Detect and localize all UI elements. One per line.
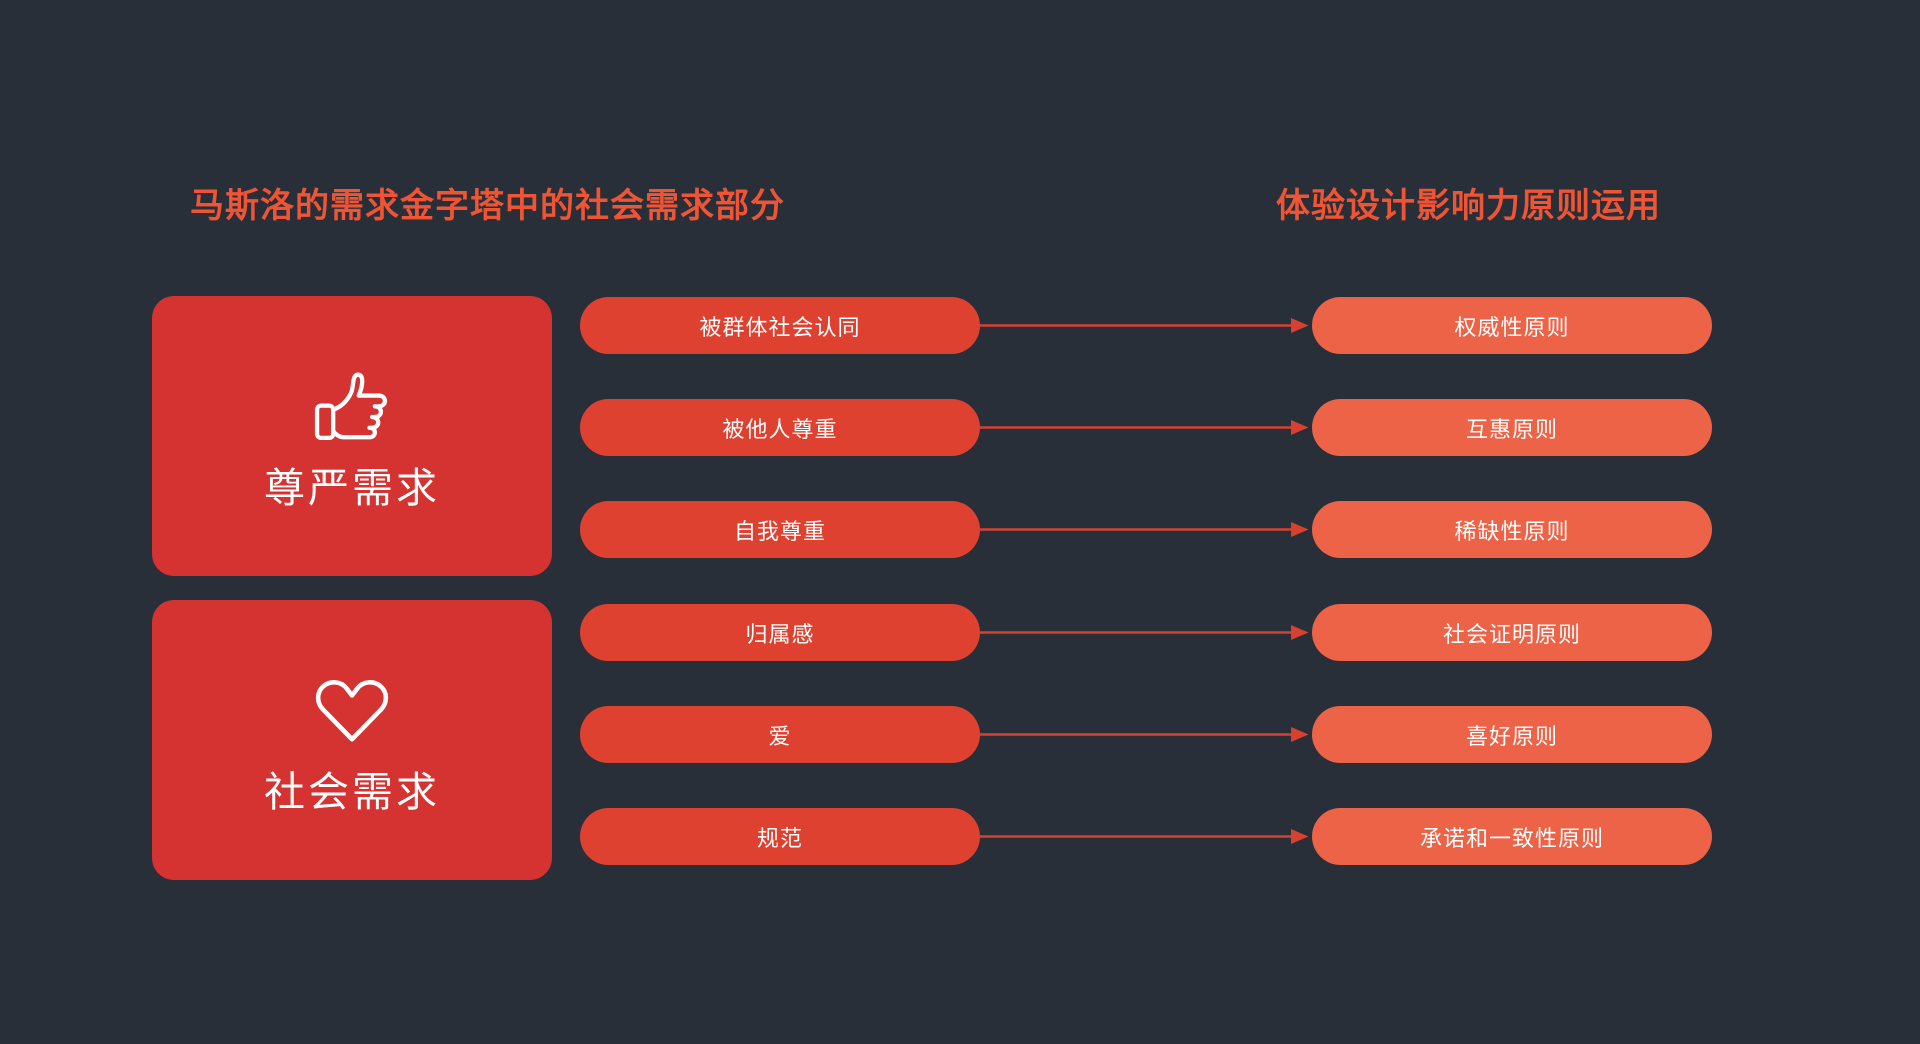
principle-pill-label: 承诺和一致性原则 xyxy=(1420,821,1604,853)
principle-pill-label: 喜好原则 xyxy=(1466,719,1558,751)
principle-pill[interactable]: 互惠原则 xyxy=(1312,399,1712,456)
need-pill-label: 自我尊重 xyxy=(734,514,826,546)
principle-pill-label: 稀缺性原则 xyxy=(1454,514,1569,546)
need-pill[interactable]: 被群体社会认同 xyxy=(580,297,980,354)
principle-pill[interactable]: 喜好原则 xyxy=(1312,706,1712,763)
need-pill-label: 爱 xyxy=(768,719,791,751)
need-pill[interactable]: 被他人尊重 xyxy=(580,399,980,456)
need-pill[interactable]: 归属感 xyxy=(580,604,980,661)
principle-pill[interactable]: 稀缺性原则 xyxy=(1312,501,1712,558)
need-pill[interactable]: 爱 xyxy=(580,706,980,763)
principle-pill[interactable]: 权威性原则 xyxy=(1312,297,1712,354)
page-title-right: 体验设计影响力原则运用 xyxy=(1276,178,1661,227)
need-pill[interactable]: 规范 xyxy=(580,808,980,865)
need-pill-label: 被群体社会认同 xyxy=(699,310,860,342)
principle-pill[interactable]: 承诺和一致性原则 xyxy=(1312,808,1712,865)
principle-pill-label: 权威性原则 xyxy=(1454,310,1569,342)
principle-pill-label: 互惠原则 xyxy=(1466,412,1558,444)
diagram-canvas: 马斯洛的需求金字塔中的社会需求部分 体验设计影响力原则运用 xyxy=(0,0,1920,1044)
principle-pill[interactable]: 社会证明原则 xyxy=(1312,604,1712,661)
category-card-label: 社会需求 xyxy=(264,772,440,813)
category-card-esteem[interactable]: 尊严需求 xyxy=(152,296,552,576)
principle-pill-label: 社会证明原则 xyxy=(1443,617,1581,649)
thumbs-up-icon xyxy=(309,364,395,450)
page-title-left: 马斯洛的需求金字塔中的社会需求部分 xyxy=(190,178,785,227)
need-pill[interactable]: 自我尊重 xyxy=(580,501,980,558)
need-pill-label: 规范 xyxy=(757,821,803,853)
need-pill-label: 归属感 xyxy=(745,617,814,649)
category-card-social[interactable]: 社会需求 xyxy=(152,600,552,880)
heart-icon xyxy=(309,668,395,754)
category-card-label: 尊严需求 xyxy=(264,468,440,509)
need-pill-label: 被他人尊重 xyxy=(722,412,837,444)
